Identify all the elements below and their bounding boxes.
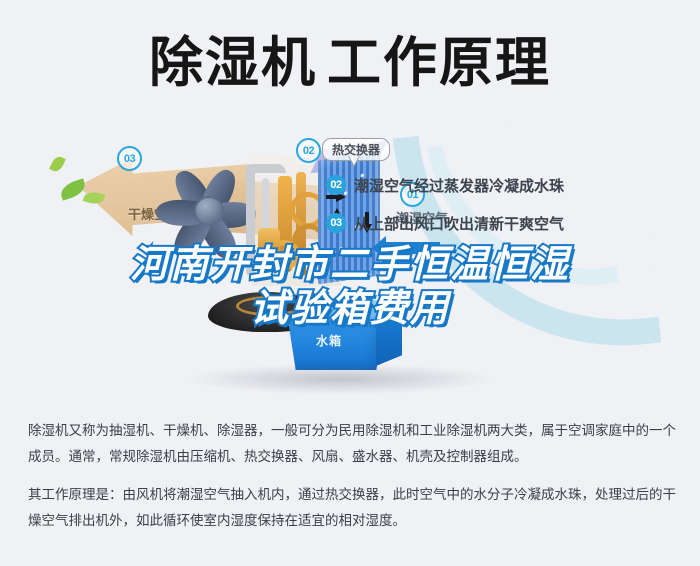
description-paragraph-2: 其工作原理是：由风机将潮湿空气抽入机内，通过热交换器，此时空气中的水分子冷凝成水… bbox=[28, 482, 676, 534]
diagram-badge-02: 02 bbox=[296, 138, 321, 163]
infographic-page: 除湿机工作原理 干燥空气 bbox=[0, 0, 700, 566]
callout-pointer-icon bbox=[348, 156, 360, 167]
watermark-line-2: 试验箱费用 bbox=[0, 287, 700, 331]
pipe-icon bbox=[246, 164, 286, 173]
watermark-overlay: 河南开封市二手恒温恒湿 试验箱费用 bbox=[0, 243, 700, 331]
step-list: 02 潮湿空气经过蒸发器冷凝成水珠 03 从上部出风口吹出清新干爽空气 bbox=[326, 174, 686, 250]
step-badge: 03 bbox=[326, 213, 346, 233]
page-title-part2: 工作原理 bbox=[327, 33, 551, 93]
page-title-part1: 除湿机 bbox=[149, 33, 317, 93]
step-text: 从上部出风口吹出清新干爽空气 bbox=[354, 213, 564, 234]
step-badge: 02 bbox=[326, 175, 346, 195]
description-paragraph-1: 除湿机又称为抽湿机、干燥机、除湿器，一般可分为民用除湿机和工业除湿机两大类，属于… bbox=[28, 418, 676, 470]
page-title: 除湿机工作原理 bbox=[0, 32, 700, 94]
list-item: 02 潮湿空气经过蒸发器冷凝成水珠 bbox=[326, 174, 686, 196]
water-tank-label: 水箱 bbox=[316, 332, 342, 349]
fan-hub-icon bbox=[194, 196, 224, 226]
leaf-icon bbox=[49, 154, 66, 173]
ground-shadow bbox=[190, 364, 490, 394]
step-text: 潮湿空气经过蒸发器冷凝成水珠 bbox=[354, 175, 564, 196]
watermark-line-1: 河南开封市二手恒温恒湿 bbox=[130, 244, 570, 286]
diagram-badge-03: 03 bbox=[117, 146, 142, 171]
description-block: 除湿机又称为抽湿机、干燥机、除湿器，一般可分为民用除湿机和工业除湿机两大类，属于… bbox=[28, 418, 676, 546]
list-item: 03 从上部出风口吹出清新干爽空气 bbox=[326, 212, 686, 234]
